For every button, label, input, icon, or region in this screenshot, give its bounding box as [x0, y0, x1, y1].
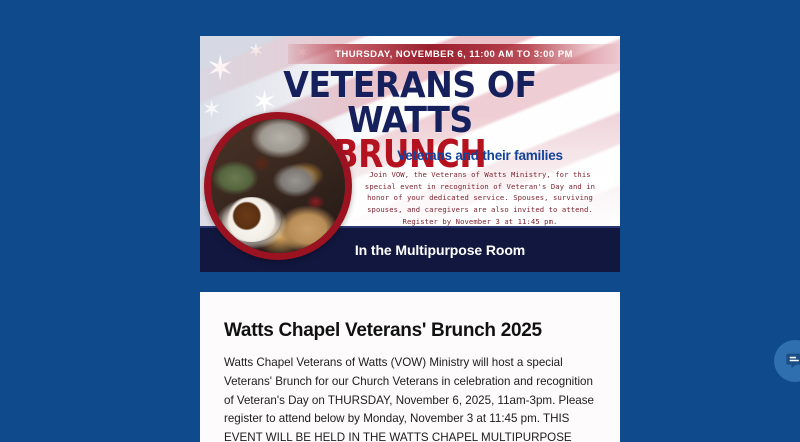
flyer-location-text: In the Multipurpose Room: [355, 242, 525, 258]
event-description: Watts Chapel Veterans of Watts (VOW) Min…: [224, 354, 596, 442]
event-flyer-image: ✶ ✶ ✶ ✶ ✶ ✶ THURSDAY, NOVEMBER 6, 11:00 …: [200, 36, 620, 272]
page-content-column: ✶ ✶ ✶ ✶ ✶ ✶ THURSDAY, NOVEMBER 6, 11:00 …: [200, 0, 620, 442]
event-detail-card: Watts Chapel Veterans' Brunch 2025 Watts…: [200, 292, 620, 442]
flyer-subheadline: Veterans and their families: [350, 148, 610, 163]
flyer-text-column: Veterans and their families Join VOW, th…: [350, 148, 610, 227]
chat-bubble-button[interactable]: [774, 340, 800, 382]
page-title: Watts Chapel Veterans' Brunch 2025: [224, 320, 596, 342]
brunch-food-photo: [204, 112, 352, 260]
flyer-body-text: Join VOW, the Veterans of Watts Ministry…: [350, 169, 610, 227]
flyer-date-text: THURSDAY, NOVEMBER 6, 11:00 AM TO 3:00 P…: [335, 49, 573, 60]
flyer-date-banner: THURSDAY, NOVEMBER 6, 11:00 AM TO 3:00 P…: [288, 44, 620, 64]
food-photo-image: [211, 119, 345, 253]
